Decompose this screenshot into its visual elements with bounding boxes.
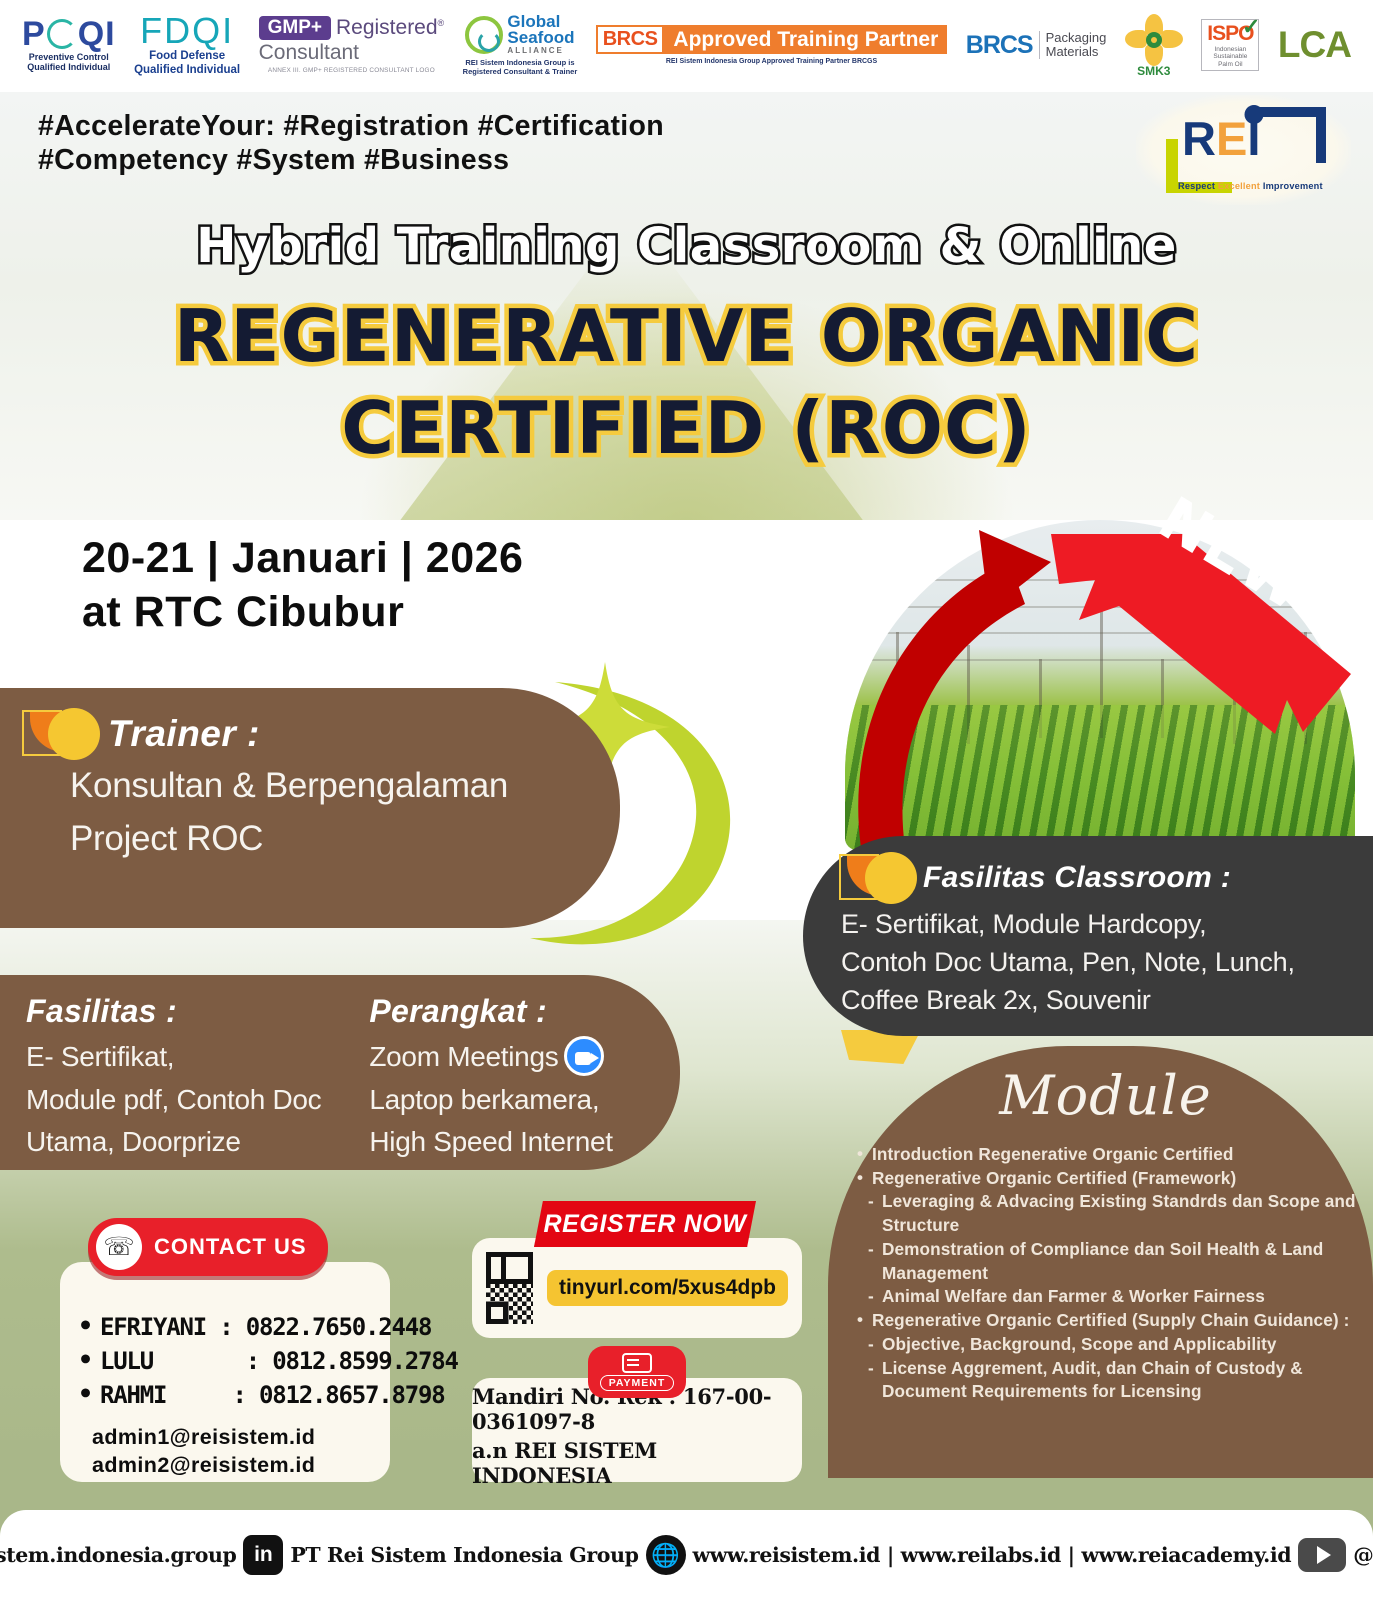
perangkat-column: Perangkat : Zoom Meetings Laptop berkame… — [369, 993, 612, 1164]
perangkat-line-3: High Speed Internet — [369, 1121, 612, 1164]
gsa-wordmark: Global Seafood ALLIANCE — [507, 14, 574, 55]
contact-emails: admin1@reisistem.id admin2@reisistem.id — [74, 1424, 372, 1480]
brcgs-training-partner-logo: BRCS Approved Training Partner REI Siste… — [596, 25, 948, 65]
module-bullet-3: Regenerative Organic Certified (Supply C… — [852, 1309, 1359, 1333]
perangkat-line-2: Laptop berkamera, — [369, 1079, 612, 1122]
payment-account-name: a.n REI SISTEM INDONESIA — [472, 1438, 802, 1488]
globe-website-icon[interactable]: 🌐 — [646, 1535, 686, 1575]
gmp-row: GMP+ Registered® — [259, 16, 445, 41]
rei-letter-e: E — [1216, 119, 1247, 159]
pcqi-wordmark: PQI — [22, 17, 116, 51]
fasilitas-classroom-line-3: Coffee Break 2x, Souvenir — [841, 982, 1353, 1018]
fasilitas-perangkat-columns: Fasilitas : E- Sertifikat, Module pdf, C… — [26, 993, 656, 1164]
smk3-logo: SMK3 — [1125, 14, 1183, 76]
module-sub-2-1: Leveraging & Advacing Existing Standrds … — [866, 1190, 1359, 1237]
rei-tagline: Respect Excellent Improvement — [1178, 181, 1323, 191]
gsa-line2: Seafood — [507, 30, 574, 46]
brcgs-note: REI Sistem Indonesia Group Approved Trai… — [666, 58, 877, 65]
social-footer: f rei.rei @rei.sistem.indonesia.group in… — [0, 1510, 1373, 1600]
footer-youtube-handle: @reisistemindonesiagrp — [1353, 1543, 1373, 1567]
footer-instagram-handle: @rei.sistem.indonesia.group — [0, 1543, 236, 1567]
global-seafood-alliance-logo: Global Seafood ALLIANCE REI Sistem Indon… — [463, 14, 578, 76]
lca-logo: LCA — [1278, 24, 1351, 66]
trainer-title: Trainer : — [108, 713, 260, 755]
fish-icon — [465, 16, 503, 54]
brcgs-packaging-logo: BRCS PackagingMaterials — [966, 31, 1107, 60]
module-panel: Module Introduction Regenerative Organic… — [828, 1046, 1373, 1478]
pcqi-logo: PQI Preventive ControlQualified Individu… — [22, 17, 116, 73]
perangkat-line-1: Zoom Meetings — [369, 1036, 612, 1079]
fasilitas-perangkat-panel: Fasilitas : E- Sertifikat, Module pdf, C… — [0, 975, 680, 1170]
fasilitas-classroom-header: Fasilitas Classroom : — [837, 852, 1353, 904]
title-kicker: Hybrid Training Classroom & Online — [0, 218, 1373, 274]
certification-logo-strip: PQI Preventive ControlQualified Individu… — [0, 0, 1373, 90]
gmp-consultant-label: Consultant — [259, 41, 359, 65]
rei-letter-r: R — [1182, 119, 1216, 159]
brcgs-packaging-row: BRCS PackagingMaterials — [966, 31, 1107, 60]
fasilitas-line-1: E- Sertifikat, — [26, 1036, 321, 1079]
contact-email-2[interactable]: admin2@reisistem.id — [92, 1452, 372, 1480]
rei-tagline-improvement: Improvement — [1263, 181, 1323, 191]
perangkat-title: Perangkat : — [369, 993, 612, 1030]
title-line-2: CERTIFIED (ROC) — [0, 392, 1373, 464]
gmp-note: ANNEX III. GMP+ REGISTERED CONSULTANT LO… — [268, 67, 435, 74]
event-venue: at RTC Cibubur — [82, 586, 523, 640]
smk3-emblem-icon: SMK3 — [1125, 14, 1183, 76]
fasilitas-title: Fasilitas : — [26, 993, 321, 1030]
brcgs-mark: BRCS — [596, 25, 665, 54]
fasilitas-classroom-title: Fasilitas Classroom : — [923, 861, 1231, 895]
globe-icon — [1244, 105, 1263, 124]
rei-letter-i: I — [1247, 119, 1260, 159]
linkedin-icon[interactable]: in — [243, 1535, 283, 1575]
footer-websites: www.reisistem.id | www.reilabs.id | www.… — [693, 1543, 1292, 1567]
register-card: tinyurl.com/5xus4dpb — [472, 1238, 802, 1338]
ispo-logo: ✓ ISPO IndonesianSustainablePalm Oil — [1201, 19, 1259, 71]
youtube-icon[interactable] — [1298, 1538, 1346, 1572]
fasilitas-line-2: Module pdf, Contoh Doc — [26, 1079, 321, 1122]
register-url[interactable]: tinyurl.com/5xus4dpb — [547, 1270, 788, 1306]
contact-person-1: EFRIYANI : 0822.7650.2448 — [74, 1310, 372, 1344]
hashtag-line: #AccelerateYour: #Registration #Certific… — [38, 110, 838, 177]
register-now-button[interactable]: REGISTER NOW — [534, 1201, 756, 1247]
gmp-badge: GMP+ — [259, 16, 331, 41]
fasilitas-column: Fasilitas : E- Sertifikat, Module pdf, C… — [26, 993, 321, 1164]
phone-ring-icon: ☏ — [96, 1224, 142, 1270]
module-sub-2-2: Demonstration of Compliance dan Soil Hea… — [866, 1238, 1359, 1285]
brcgs-packaging-label: PackagingMaterials — [1039, 31, 1107, 60]
payment-button[interactable]: PAYMENT — [588, 1346, 686, 1398]
perangkat-line-1-text: Zoom Meetings — [369, 1041, 558, 1072]
module-sub-3-1: Objective, Background, Scope and Applica… — [866, 1333, 1359, 1357]
contact-people-list: EFRIYANI : 0822.7650.2448 LULU : 0812.85… — [74, 1310, 372, 1412]
module-sublist-supply-chain: Objective, Background, Scope and Applica… — [852, 1333, 1359, 1404]
contact-card: EFRIYANI : 0822.7650.2448 LULU : 0812.85… — [60, 1262, 390, 1482]
module-sublist-framework: Leveraging & Advacing Existing Standrds … — [852, 1190, 1359, 1309]
module-sub-3-2: License Aggrement, Audit, dan Chain of C… — [866, 1357, 1359, 1404]
trainer-header: Trainer : — [20, 708, 590, 760]
rei-tagline-respect: Respect — [1178, 181, 1218, 191]
payment-label: PAYMENT — [600, 1375, 675, 1391]
qr-code[interactable] — [486, 1252, 533, 1324]
trainer-line-1: Konsultan & Berpengalaman — [70, 760, 590, 813]
ispo-subtitle: IndonesianSustainablePalm Oil — [1213, 46, 1247, 68]
rei-tagline-excellent: Excellent — [1218, 181, 1263, 191]
module-title: Module — [852, 1064, 1359, 1127]
module-sub-2-3: Animal Welfare dan Farmer & Worker Fairn… — [866, 1285, 1359, 1309]
fasilitas-classroom-line-1: E- Sertifikat, Module Hardcopy, — [841, 906, 1353, 942]
fasilitas-line-3: Utama, Doorprize — [26, 1121, 321, 1164]
module-bullet-2: Regenerative Organic Certified (Framewor… — [852, 1167, 1359, 1191]
circle-square-bullet-icon — [837, 852, 917, 904]
fdqi-wordmark: FDQI — [140, 13, 234, 49]
trainer-line-2: Project ROC — [70, 813, 590, 866]
ispo-box: ✓ ISPO IndonesianSustainablePalm Oil — [1201, 19, 1259, 71]
footer-linkedin-name: PT Rei Sistem Indonesia Group — [290, 1543, 638, 1567]
event-date: 20-21 | Januari | 2026 — [82, 532, 523, 586]
contact-us-button[interactable]: ☏ CONTACT US — [88, 1218, 328, 1276]
pcqi-subtitle: Preventive ControlQualified Individual — [27, 53, 110, 73]
contact-us-label: CONTACT US — [154, 1234, 307, 1260]
rei-letters: R E I — [1182, 119, 1260, 159]
gmp-plus-logo: GMP+ Registered® Consultant ANNEX III. G… — [259, 16, 445, 75]
gsa-row: Global Seafood ALLIANCE — [465, 14, 574, 55]
contact-person-2: LULU : 0812.8599.2784 — [74, 1344, 372, 1378]
brcgs-partner-label: Approved Training Partner — [664, 25, 947, 54]
module-list: Introduction Regenerative Organic Certif… — [852, 1143, 1359, 1404]
module-bullet-1: Introduction Regenerative Organic Certif… — [852, 1143, 1359, 1167]
fdqi-logo: FDQI Food DefenseQualified Individual — [134, 13, 240, 76]
gmp-registered-label: Registered® — [336, 16, 444, 40]
credit-card-icon — [622, 1353, 652, 1373]
circle-square-bullet-icon — [20, 708, 100, 760]
fasilitas-classroom-panel: Fasilitas Classroom : E- Sertifikat, Mod… — [803, 836, 1373, 1036]
register-now-label: REGISTER NOW — [543, 1210, 746, 1239]
lca-wordmark: LCA — [1278, 24, 1351, 66]
gsa-note: REI Sistem Indonesia Group isRegistered … — [463, 58, 578, 76]
event-date-block: 20-21 | Januari | 2026 at RTC Cibubur — [82, 532, 523, 640]
contact-person-3: RAHMI : 0812.8657.8798 — [74, 1378, 372, 1412]
pcqi-swirl-icon — [47, 19, 77, 49]
smk3-label: SMK3 — [1125, 64, 1183, 78]
poster-root: PQI Preventive ControlQualified Individu… — [0, 0, 1373, 1600]
zoom-video-icon — [564, 1036, 604, 1076]
gsa-line3: ALLIANCE — [507, 46, 574, 55]
fdqi-subtitle: Food DefenseQualified Individual — [134, 50, 240, 76]
rei-logo: R E I Respect Excellent Improvement — [1136, 95, 1351, 205]
fasilitas-classroom-line-2: Contoh Doc Utama, Pen, Note, Lunch, — [841, 944, 1353, 980]
brcgs-bar: BRCS Approved Training Partner — [596, 25, 948, 54]
title-line-1: REGENERATIVE ORGANIC — [0, 300, 1373, 372]
brcgs-packaging-mark: BRCS — [966, 31, 1033, 60]
check-icon: ✓ — [1242, 14, 1260, 40]
trainer-panel: Trainer : Konsultan & Berpengalaman Proj… — [0, 688, 620, 928]
contact-email-1[interactable]: admin1@reisistem.id — [92, 1424, 372, 1452]
rei-bracket-navy-right — [1316, 107, 1326, 163]
